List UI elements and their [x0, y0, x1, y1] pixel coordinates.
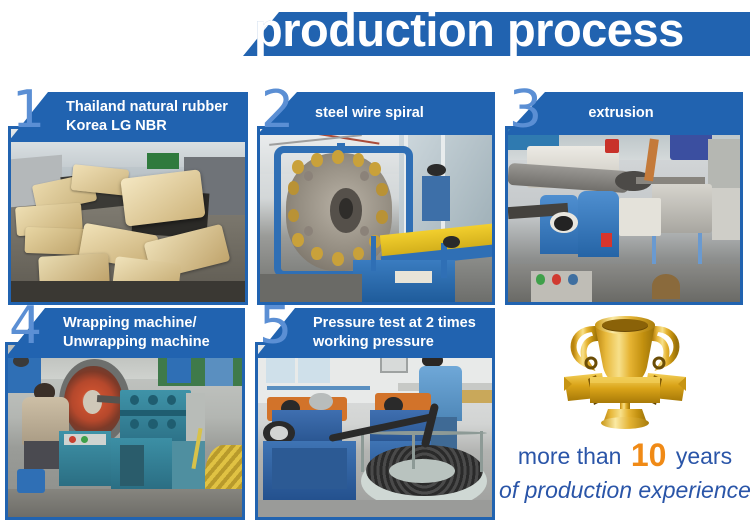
- process-step-2[interactable]: steel wire spiral 2: [257, 92, 495, 305]
- step-5-label-line2: working pressure: [313, 334, 434, 350]
- photo-extrusion-line: [508, 129, 740, 302]
- experience-tagline-line2: of production experience: [496, 477, 750, 504]
- step-1-label-line1: Thailand natural rubber: [66, 99, 228, 115]
- step-3-photo-frame: [505, 126, 743, 305]
- tagline-suffix: years: [676, 443, 732, 469]
- step-3-label-line1: extrusion: [588, 105, 653, 121]
- step-5-number: 5: [259, 300, 292, 352]
- step-2-photo-frame: [257, 126, 495, 305]
- process-step-3[interactable]: extrusion 3: [505, 92, 743, 305]
- page-title: production process: [254, 6, 750, 53]
- experience-tagline-line1: more than 10 years: [500, 437, 750, 474]
- step-4-photo-frame: [5, 342, 245, 520]
- step-1-number: 1: [12, 84, 45, 136]
- step-4-label-line1: Wrapping machine/: [63, 315, 196, 331]
- process-step-4[interactable]: Wrapping machine/ Unwrapping machine 4: [5, 308, 245, 520]
- process-step-1[interactable]: Thailand natural rubber Korea LG NBR 1: [8, 92, 248, 305]
- step-2-label-line1: steel wire spiral: [315, 105, 424, 121]
- photo-rubber-bales: [11, 129, 245, 302]
- photo-wrapping-machine: [8, 345, 242, 517]
- step-1-label-line2: Korea LG NBR: [66, 118, 167, 134]
- trophy-icon: [550, 305, 700, 435]
- photo-steel-wire-spiral-machine: [260, 129, 492, 302]
- step-5-label-line1: Pressure test at 2 times: [313, 315, 476, 331]
- photo-pressure-test: [258, 345, 492, 517]
- tagline-prefix: more than: [518, 443, 622, 469]
- step-3-number: 3: [509, 84, 542, 136]
- process-step-5[interactable]: Pressure test at 2 times working pressur…: [255, 308, 495, 520]
- tagline-years-number: 10: [628, 437, 670, 473]
- experience-badge: more than 10 years of production experie…: [500, 305, 750, 525]
- step-5-photo-frame: [255, 342, 495, 520]
- step-4-number: 4: [9, 300, 42, 352]
- step-1-photo-frame: [8, 126, 248, 305]
- step-2-number: 2: [261, 84, 294, 136]
- step-4-label-line2: Unwrapping machine: [63, 334, 210, 350]
